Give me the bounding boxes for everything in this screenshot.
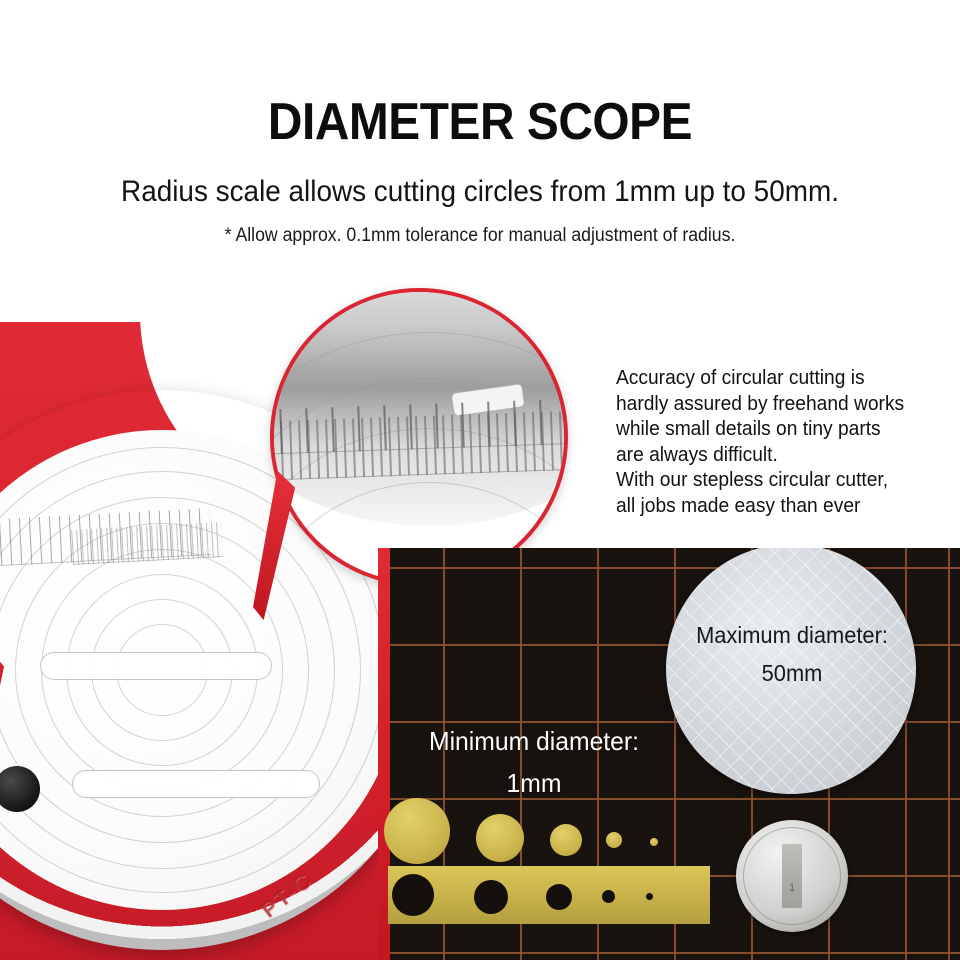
description-paragraph: Accuracy of circular cutting is hardly a… bbox=[616, 366, 933, 519]
photo-cutting-mat-samples: Maximum diameter: 50mm Minimum diameter:… bbox=[378, 548, 960, 960]
brass-sample-disc bbox=[476, 814, 524, 862]
description-line: are always difficult. bbox=[616, 443, 933, 469]
brass-sample-disc bbox=[384, 798, 450, 864]
tolerance-note: * Allow approx. 0.1mm tolerance for manu… bbox=[34, 224, 927, 248]
min-diameter-value: 1mm bbox=[392, 762, 677, 804]
description-line: hardly assured by freehand works bbox=[616, 392, 933, 418]
punched-hole bbox=[602, 890, 615, 903]
brass-sample-disc bbox=[606, 832, 622, 848]
brass-strip-with-holes bbox=[388, 866, 710, 924]
max-diameter-callout: Maximum diameter: 50mm bbox=[680, 616, 904, 692]
min-diameter-callout: Minimum diameter: 1mm bbox=[392, 720, 677, 804]
description-line: while small details on tiny parts bbox=[616, 417, 933, 443]
punched-hole bbox=[646, 893, 653, 900]
reference-coin: 1 bbox=[736, 820, 848, 932]
coin-denomination: 1 bbox=[736, 882, 848, 894]
cutter-arm-slot bbox=[40, 652, 272, 680]
page-title: DIAMETER SCOPE bbox=[38, 94, 921, 150]
description-line: all jobs made easy than ever bbox=[616, 494, 933, 520]
max-diameter-value: 50mm bbox=[680, 654, 904, 692]
punched-hole bbox=[474, 880, 508, 914]
page-subtitle: Radius scale allows cutting circles from… bbox=[34, 174, 927, 210]
brass-sample-disc bbox=[650, 838, 658, 846]
scale-magnifier-closeup bbox=[270, 288, 568, 586]
punched-hole bbox=[392, 874, 434, 916]
description-line: With our stepless circular cutter, bbox=[616, 468, 933, 494]
max-diameter-label: Maximum diameter: bbox=[680, 616, 904, 654]
coin-monument-relief bbox=[782, 844, 802, 908]
brass-sample-disc bbox=[550, 824, 582, 856]
cutter-arm-slot bbox=[72, 770, 320, 798]
header-section: DIAMETER SCOPE Radius scale allows cutti… bbox=[0, 0, 960, 300]
min-diameter-label: Minimum diameter: bbox=[392, 720, 677, 762]
product-photo-collage: PT-C Maximum diameter: 50mm Minimum diam… bbox=[0, 300, 960, 960]
punched-hole bbox=[546, 884, 572, 910]
description-line: Accuracy of circular cutting is bbox=[616, 366, 933, 392]
